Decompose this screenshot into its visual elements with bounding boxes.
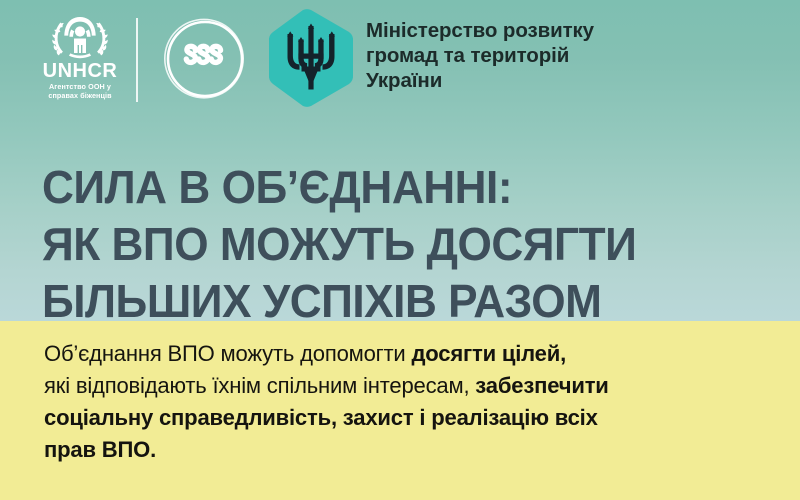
body-line-1: Об’єднання ВПО можуть допомогти досягти …: [44, 338, 750, 370]
body-line-2-regular: які відповідають їхнім спільним інтереса…: [44, 373, 475, 398]
ministry-name-line-2: громад та територій: [366, 43, 786, 68]
headline-line-1: СИЛА В ОБ’ЄДНАННІ:: [42, 159, 743, 216]
body-line-2: які відповідають їхнім спільним інтереса…: [44, 370, 750, 402]
body-line-1-regular: Об’єднання ВПО можуть допомогти: [44, 341, 411, 366]
headline-line-3: БІЛЬШИХ УСПІХІВ РАЗОМ: [42, 273, 743, 330]
unhcr-subtitle-line-2: справах біженців: [48, 91, 111, 100]
unhcr-emblem-icon: [31, 10, 129, 60]
logo-bar: UNHCR Агентство ООН у справах біженців: [0, 0, 800, 118]
headline: СИЛА В ОБ’ЄДНАННІ: ЯК ВПО МОЖУТЬ ДОСЯГТИ…: [42, 159, 743, 330]
body-line-1-bold: досягти цілей,: [411, 341, 566, 366]
unhcr-subtitle: Агентство ООН у справах біженців: [30, 83, 130, 100]
body-line-3-bold: соціальну справедливість, захист і реалі…: [44, 405, 598, 430]
body-line-4: прав ВПО.: [44, 434, 750, 466]
unhcr-wordmark: UNHCR: [30, 61, 130, 81]
logo-divider: [136, 18, 138, 102]
ministry-name-line-1: Міністерство розвитку: [366, 18, 786, 43]
body-copy: Об’єднання ВПО можуть допомогти досягти …: [44, 338, 750, 466]
ukraine-trident-hexagon-icon: [265, 8, 357, 108]
poster-canvas: UNHCR Агентство ООН у справах біженців: [0, 0, 800, 500]
headline-line-2: ЯК ВПО МОЖУТЬ ДОСЯГТИ: [42, 216, 743, 273]
sss-circle-icon: [160, 14, 250, 104]
sss-logo: [160, 14, 250, 104]
ministry-name: Міністерство розвитку громад та територі…: [366, 18, 786, 93]
ministry-logo: [265, 8, 357, 108]
body-line-3: соціальну справедливість, захист і реалі…: [44, 402, 750, 434]
ministry-name-line-3: України: [366, 68, 786, 93]
unhcr-logo: UNHCR Агентство ООН у справах біженців: [30, 10, 130, 100]
body-line-4-bold: прав ВПО.: [44, 437, 156, 462]
body-line-2-bold: забезпечити: [475, 373, 608, 398]
